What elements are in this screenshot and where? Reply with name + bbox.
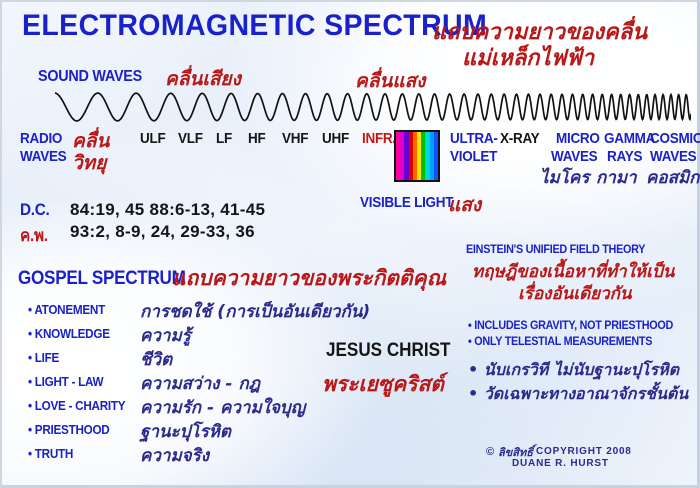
copyright-line2: DUANE R. HURST xyxy=(512,458,609,469)
rainbow-band-9 xyxy=(434,132,438,180)
scripture-thai-references: 93:2, 8-9, 24, 29-33, 36 xyxy=(70,222,255,242)
gospel-item-label-thai: การชดใช้ (การเป็นอันเดียวกัน) xyxy=(140,298,370,325)
band-radio-line1: RADIO xyxy=(20,130,62,147)
band-gamma-thai: กามา xyxy=(596,164,637,191)
page-title-thai-line2: แม่เหล็กไฟฟ้า xyxy=(462,40,594,75)
einstein-heading-thai-line2: เรื่องอันเดียวกัน xyxy=(518,280,632,307)
gospel-item-label: • LOVE - CHARITY xyxy=(28,398,125,413)
scripture-thai-label: ค.พ. xyxy=(20,222,48,249)
gospel-item-label-thai: ความรัก - ความใจบุญ xyxy=(140,394,305,421)
gospel-item-label-thai: ความรู้ xyxy=(140,322,191,349)
band-radio-thai-line2: วิทยุ xyxy=(72,148,106,178)
band-ulf: ULF xyxy=(140,130,165,147)
band-xray: X-RAY xyxy=(500,130,539,147)
gospel-spectrum-heading-thai: แถบความยาวของพระกิตติคุณ xyxy=(172,262,446,295)
band-cosmic-line1: COSMIC xyxy=(650,130,700,147)
band-microwaves-line2: WAVES xyxy=(551,148,597,165)
band-lf: LF xyxy=(216,130,232,147)
poster-border-left xyxy=(0,0,2,488)
band-hf: HF xyxy=(248,130,265,147)
einstein-bullet-1: • INCLUDES GRAVITY, NOT PRIESTHOOD xyxy=(468,318,673,332)
gospel-item-label: • ATONEMENT xyxy=(28,302,105,317)
einstein-bullet-thai-2: • วัดเฉพาะทางอาณาจักรชั้นต้น xyxy=(468,382,688,407)
visible-light-label-thai: แสง xyxy=(448,190,481,220)
band-ultraviolet-line2: VIOLET xyxy=(450,148,497,165)
band-vlf: VLF xyxy=(178,130,203,147)
band-cosmic-line2: WAVES xyxy=(650,148,696,165)
jesus-christ-label: JESUS CHRIST xyxy=(326,340,450,362)
page-title: ELECTROMAGNETIC SPECTRUM xyxy=(22,10,487,42)
gospel-item-label: • KNOWLEDGE xyxy=(28,326,110,341)
visible-light-label: VISIBLE LIGHT xyxy=(360,194,453,211)
band-microwaves-line1: MICRO xyxy=(556,130,600,147)
gospel-item-label-thai: ความสว่าง - กฎ xyxy=(140,370,260,397)
band-cosmic-thai: คอสมิก xyxy=(646,164,699,191)
sound-waves-label: SOUND WAVES xyxy=(38,68,142,86)
band-ultraviolet-line1: ULTRA- xyxy=(450,130,498,147)
scripture-dc-label: D.C. xyxy=(20,200,50,220)
band-radio-line2: WAVES xyxy=(20,148,66,165)
einstein-heading: EINSTEIN'S UNIFIED FIELD THEORY xyxy=(466,242,645,256)
band-gamma-line2: RAYS xyxy=(607,148,642,165)
einstein-bullet-thai-1: • นับเกรวิที ไม่นับฐานะปุโรหิต xyxy=(468,358,679,383)
jesus-christ-label-thai: พระเยซูคริสต์ xyxy=(322,368,444,401)
gospel-item-label-thai: ชีวิต xyxy=(140,346,172,373)
band-gamma-line1: GAMMA xyxy=(604,130,655,147)
copyright-line1: COPYRIGHT 2008 xyxy=(536,446,632,457)
visible-light-rainbow-swatch xyxy=(394,130,440,182)
gospel-item-label-thai: ความจริง xyxy=(140,442,209,469)
poster-border-top xyxy=(0,0,700,2)
gospel-item-label: • PRIESTHOOD xyxy=(28,422,109,437)
band-vhf: VHF xyxy=(282,130,308,147)
copyright-symbol: © xyxy=(486,446,494,458)
band-microwaves-thai: ไมโคร xyxy=(540,164,589,191)
frequency-waveform-graphic xyxy=(55,88,691,131)
einstein-bullet-2: • ONLY TELESTIAL MEASUREMENTS xyxy=(468,334,652,348)
gospel-spectrum-heading: GOSPEL SPECTRUM xyxy=(18,268,186,290)
gospel-item-label: • LIFE xyxy=(28,350,59,365)
scripture-dc-references: 84:19, 45 88:6-13, 41-45 xyxy=(70,200,265,220)
gospel-item-label: • LIGHT - LAW xyxy=(28,374,103,389)
electromagnetic-spectrum-poster: ELECTROMAGNETIC SPECTRUM แถบความยาวของคล… xyxy=(0,0,700,488)
band-uhf: UHF xyxy=(322,130,349,147)
gospel-item-label-thai: ฐานะปุโรหิต xyxy=(140,418,231,445)
gospel-item-label: • TRUTH xyxy=(28,446,73,461)
